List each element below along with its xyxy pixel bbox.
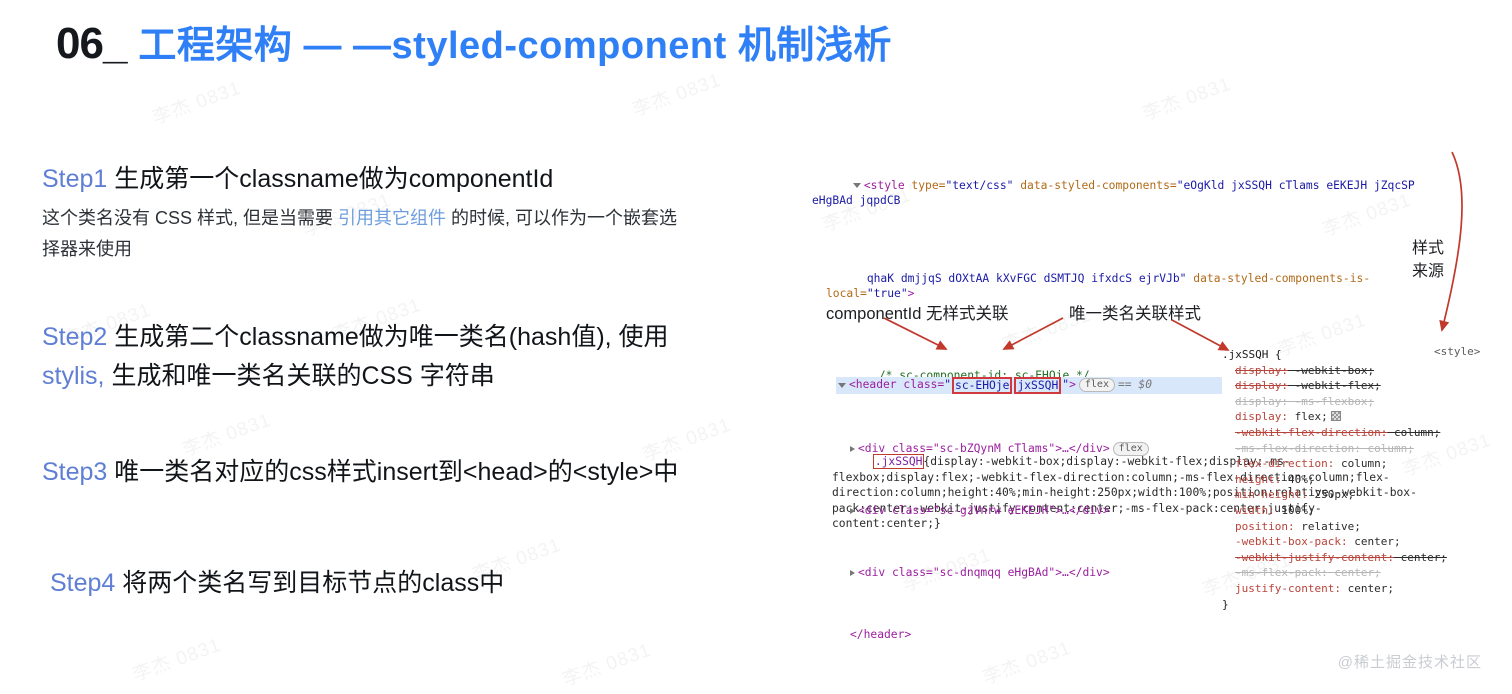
css-rule-row[interactable]: display: -webkit-box; (1222, 363, 1432, 379)
slide-root: 李杰 0831 李杰 0831 李杰 0831 李杰 0831 李杰 0831 … (0, 0, 1512, 694)
style-tag-line: <style type="text/css" data-styled-compo… (812, 162, 1428, 224)
annotation-unique-class-style: 唯一类名关联样式 (1069, 300, 1201, 324)
style-tag-open: <style (864, 179, 905, 192)
style-attr-type: type= (905, 179, 946, 192)
css-rule-row[interactable]: -ms-flex-direction: column; (1222, 441, 1432, 457)
step-1-heading: Step1 生成第一个classname做为componentId (42, 160, 732, 199)
css-rule-row[interactable]: -webkit-flex-direction: column; (1222, 425, 1432, 441)
step-2-stylis-link[interactable]: stylis, (42, 362, 105, 390)
css-value-swatch-icon[interactable] (1331, 411, 1341, 421)
css-rule-property: -webkit-justify-content: (1235, 551, 1394, 564)
dom-child-2-text: <div class="sc-gzVnrw eEKEJH">…</div> (858, 504, 1110, 517)
watermark-tile: 李杰 0831 (628, 65, 724, 122)
disclosure-triangle-icon[interactable] (838, 383, 846, 388)
css-rule-value: 250px; (1308, 488, 1354, 501)
annotation-componentid-no-style: componentId 无样式关联 (826, 300, 1008, 324)
css-panel-selector: .jxSSQH { (1222, 347, 1432, 363)
css-rule-value: -ms-flexbox; (1288, 395, 1374, 408)
step-3-heading-text: 唯一类名对应的css样式insert到<head>的<style>中 (107, 458, 678, 486)
css-rule-row[interactable]: height: 40%; (1222, 472, 1432, 488)
css-rule-row[interactable]: -ms-flex-pack: center; (1222, 565, 1432, 581)
css-rule-row[interactable]: display: -webkit-flex; (1222, 378, 1432, 394)
css-rule-value: -webkit-flex; (1288, 379, 1381, 392)
css-rule-value: column; (1334, 457, 1387, 470)
dom-child-3-text: <div class="sc-dnqmqq eHgBAd">…</div> (858, 566, 1110, 579)
css-rule-value: flex; (1288, 410, 1328, 423)
dom-class-hash: jxSSQH (1014, 377, 1061, 394)
annotation-style-source: 样式 来源 (1404, 237, 1452, 283)
css-rule-row[interactable]: display: -ms-flexbox; (1222, 394, 1432, 410)
css-rule-row[interactable]: -webkit-justify-content: center; (1222, 550, 1432, 566)
step-1-body-pre: 这个类名没有 CSS 样式, 但是当需要 (42, 208, 338, 228)
style-attr-type-value: "text/css" (945, 179, 1013, 192)
css-rule-row[interactable]: min-height: 250px; (1222, 487, 1432, 503)
css-rule-property: position: (1235, 520, 1295, 533)
watermark-tile: 李杰 0831 (1138, 69, 1234, 126)
css-rule-row[interactable]: flex-direction: column; (1222, 456, 1432, 472)
dom-header-quote-open: " (944, 378, 951, 391)
flex-badge[interactable]: flex (1079, 378, 1115, 392)
watermark-tile: 李杰 0831 (148, 73, 244, 130)
css-rule-property: justify-content: (1235, 582, 1341, 595)
dom-class-component-id: sc-EHOje (952, 377, 1012, 394)
step-block-1: Step1 生成第一个classname做为componentId 这个类名没有… (42, 160, 732, 266)
css-rule-property: min-height: (1235, 488, 1308, 501)
css-rule-property: -ms-flex-pack: (1235, 566, 1328, 579)
step-2-heading-line2: stylis, 生成和唯一类名关联的CSS 字符串 (42, 357, 732, 396)
css-rule-property: -ms-flex-direction: (1235, 442, 1361, 455)
css-rule-row[interactable]: position: relative; (1222, 519, 1432, 535)
css-rule-property: display: (1235, 379, 1288, 392)
css-rule-property: -webkit-flex-direction: (1235, 426, 1387, 439)
css-rule-rows: display: -webkit-box;display: -webkit-fl… (1222, 363, 1432, 597)
css-rule-value: center; (1328, 566, 1381, 579)
site-watermark: @稀土掘金技术社区 (1338, 651, 1482, 672)
dom-row-header-close: </header> (836, 627, 1222, 643)
step-block-3: Step3 唯一类名对应的css样式insert到<head>的<style>中 (42, 453, 732, 492)
css-rule-property: height: (1235, 473, 1281, 486)
step-2-tag: Step2 (42, 323, 107, 351)
step-2-heading-text-1: 生成第二个classname做为唯一类名(hash值), 使用 (107, 323, 668, 351)
css-rule-property: display: (1235, 410, 1288, 423)
watermark-tile: 李杰 0831 (128, 630, 224, 687)
dom-header-close-tag: </header> (850, 628, 911, 641)
disclosure-triangle-icon[interactable] (850, 508, 855, 514)
step-4-heading: Step4 将两个类名写到目标节点的class中 (42, 564, 732, 603)
annotation-style-source-line2: 来源 (1404, 260, 1452, 283)
style-tag-close: > (908, 287, 915, 300)
disclosure-triangle-icon[interactable] (850, 446, 855, 452)
step-3-heading: Step3 唯一类名对应的css样式insert到<head>的<style>中 (42, 453, 732, 492)
watermark-tile: 李杰 0831 (558, 635, 654, 692)
css-panel-closing-brace: } (1222, 597, 1432, 613)
css-rule-property: width: (1235, 504, 1275, 517)
step-block-2: Step2 生成第二个classname做为唯一类名(hash值), 使用 st… (42, 318, 732, 396)
disclosure-triangle-icon[interactable] (853, 183, 861, 188)
css-rule-value: center; (1341, 582, 1394, 595)
dom-row-child-3[interactable]: <div class="sc-dnqmqq eHgBAd">…</div> (836, 565, 1222, 581)
steps-list: Step1 生成第一个classname做为componentId 这个类名没有… (42, 160, 732, 613)
step-2-heading-text-2: 生成和唯一类名关联的CSS 字符串 (105, 362, 495, 390)
dom-child-1-text: <div class="sc-bZQynM cTlams">…</div> (858, 442, 1110, 455)
annotation-style-tag-caption: <style> (1434, 345, 1480, 358)
dom-header-gt: > (1069, 378, 1076, 391)
dom-row-child-1[interactable]: <div class="sc-bZQynM cTlams">…</div>fle… (836, 441, 1222, 457)
step-2-heading-line1: Step2 生成第二个classname做为唯一类名(hash值), 使用 (42, 318, 732, 357)
css-rule-value: center; (1394, 551, 1447, 564)
dom-row-child-2[interactable]: <div class="sc-gzVnrw eEKEJH">…</div> (836, 503, 1222, 519)
step-4-tag: Step4 (50, 569, 115, 597)
css-rule-value: 40%; (1281, 473, 1314, 486)
css-rule-row[interactable]: justify-content: center; (1222, 581, 1432, 597)
step-1-heading-text: 生成第一个classname做为componentId (107, 165, 553, 193)
step-1-body-highlight[interactable]: 引用其它组件 (338, 208, 446, 228)
css-rule-row[interactable]: display: flex; (1222, 409, 1432, 425)
step-block-4: Step4 将两个类名写到目标节点的class中 (42, 564, 732, 603)
step-3-tag: Step3 (42, 458, 107, 486)
css-rule-row[interactable]: -webkit-box-pack: center; (1222, 534, 1432, 550)
css-rule-property: display: (1235, 395, 1288, 408)
slide-title-text: 工程架构 — —styled-component 机制浅析 (138, 14, 891, 69)
devtools-dom-panel: <header class="sc-EHOjejxSSQH">flex== $0… (836, 346, 1222, 673)
dom-row-header[interactable]: <header class="sc-EHOjejxSSQH">flex== $0 (836, 377, 1222, 394)
css-rule-property: display: (1235, 364, 1288, 377)
css-rule-value: column; (1387, 426, 1440, 439)
page-title: 06_ 工程架构 — —styled-component 机制浅析 (56, 14, 892, 69)
css-rule-property: flex-direction: (1235, 457, 1334, 470)
css-rule-value: center; (1348, 535, 1401, 548)
css-rule-value: column; (1361, 442, 1414, 455)
slide-number: 06_ (56, 19, 126, 69)
step-4-heading-text: 将两个类名写到目标节点的class中 (115, 569, 504, 597)
css-rule-property: -webkit-box-pack: (1235, 535, 1348, 548)
style-attr-local-value: "true" (867, 287, 908, 300)
annotation-style-source-line1: 样式 (1404, 237, 1452, 260)
css-rule-row[interactable]: width: 100%; (1222, 503, 1432, 519)
dom-selected-node-ref: == $0 (1118, 378, 1152, 391)
dom-header-tag: <header class= (849, 378, 944, 391)
style-attr-dsc-value-2: qhaK dmjjqS dOXtAA kXvFGC dSMTJQ ifxdcS … (867, 272, 1187, 285)
disclosure-triangle-icon[interactable] (850, 570, 855, 576)
css-rule-value: 100%; (1275, 504, 1315, 517)
css-rule-value: relative; (1295, 520, 1361, 533)
flex-badge[interactable]: flex (1113, 442, 1149, 456)
step-1-tag: Step1 (42, 165, 107, 193)
step-1-body: 这个类名没有 CSS 样式, 但是当需要 引用其它组件 的时候, 可以作为一个嵌… (42, 203, 682, 266)
style-attr-dsc: data-styled-components= (1013, 179, 1176, 192)
css-rule-value: -webkit-box; (1288, 364, 1374, 377)
devtools-styles-panel: .jxSSQH { display: -webkit-box;display: … (1222, 347, 1432, 612)
